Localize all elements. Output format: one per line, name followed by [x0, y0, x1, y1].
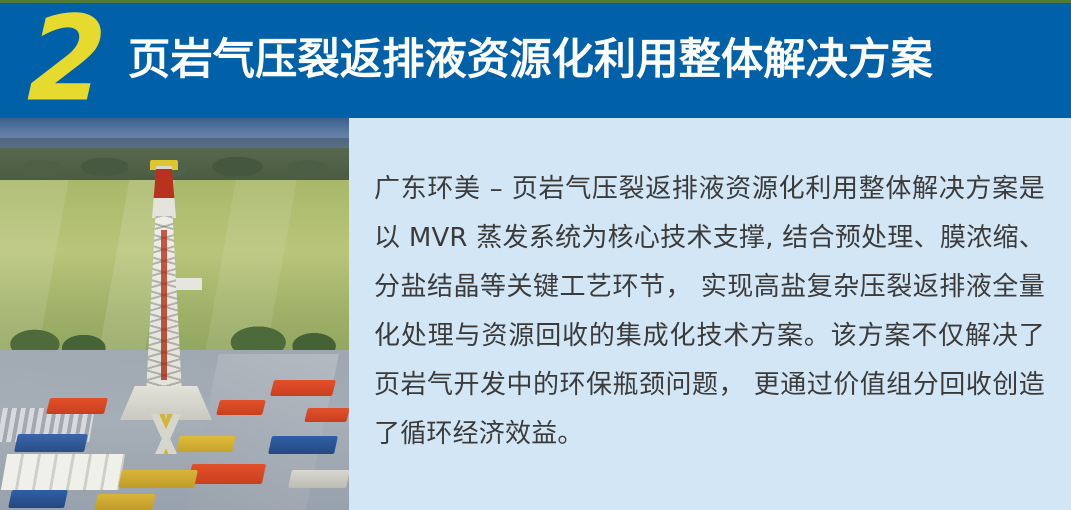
- photo-tanker-truck: [94, 494, 155, 510]
- photo-worker-camp: [1, 454, 125, 490]
- photo-tanker-truck: [176, 436, 235, 452]
- description-paragraph: 广东环美 – 页岩气压裂返排液资源化利用整体解决方案是以 MVR 蒸发系统为核心…: [374, 165, 1045, 459]
- photo-derrick-platform: [176, 278, 202, 290]
- photo-tanker-truck: [268, 436, 338, 454]
- section-number-badge: 2: [30, 11, 122, 111]
- photo-tanker-truck: [288, 470, 349, 488]
- photo-tanker-truck: [270, 380, 336, 396]
- photo-tanker-truck: [46, 398, 108, 414]
- description-panel: 广东环美 – 页岩气压裂返排液资源化利用整体解决方案是以 MVR 蒸发系统为核心…: [349, 118, 1071, 510]
- photo-tanker-truck: [8, 490, 68, 508]
- content-area: 广东环美 – 页岩气压裂返排液资源化利用整体解决方案是以 MVR 蒸发系统为核心…: [0, 118, 1071, 510]
- page-title: 页岩气压裂返排液资源化利用整体解决方案: [128, 39, 933, 82]
- photo-tanker-truck: [14, 434, 88, 452]
- solution-slide: 2 页岩气压裂返排液资源化利用整体解决方案: [0, 0, 1071, 510]
- section-number-glyph: 2: [26, 7, 122, 116]
- photo-tanker-truck: [118, 470, 198, 488]
- photo-tanker-truck: [304, 408, 349, 422]
- photo-tanker-truck: [216, 400, 266, 415]
- header-band: 2 页岩气压裂返排液资源化利用整体解决方案: [0, 3, 1071, 118]
- photo-tanker-truck: [188, 464, 266, 484]
- drilling-rig-photo: [0, 118, 349, 510]
